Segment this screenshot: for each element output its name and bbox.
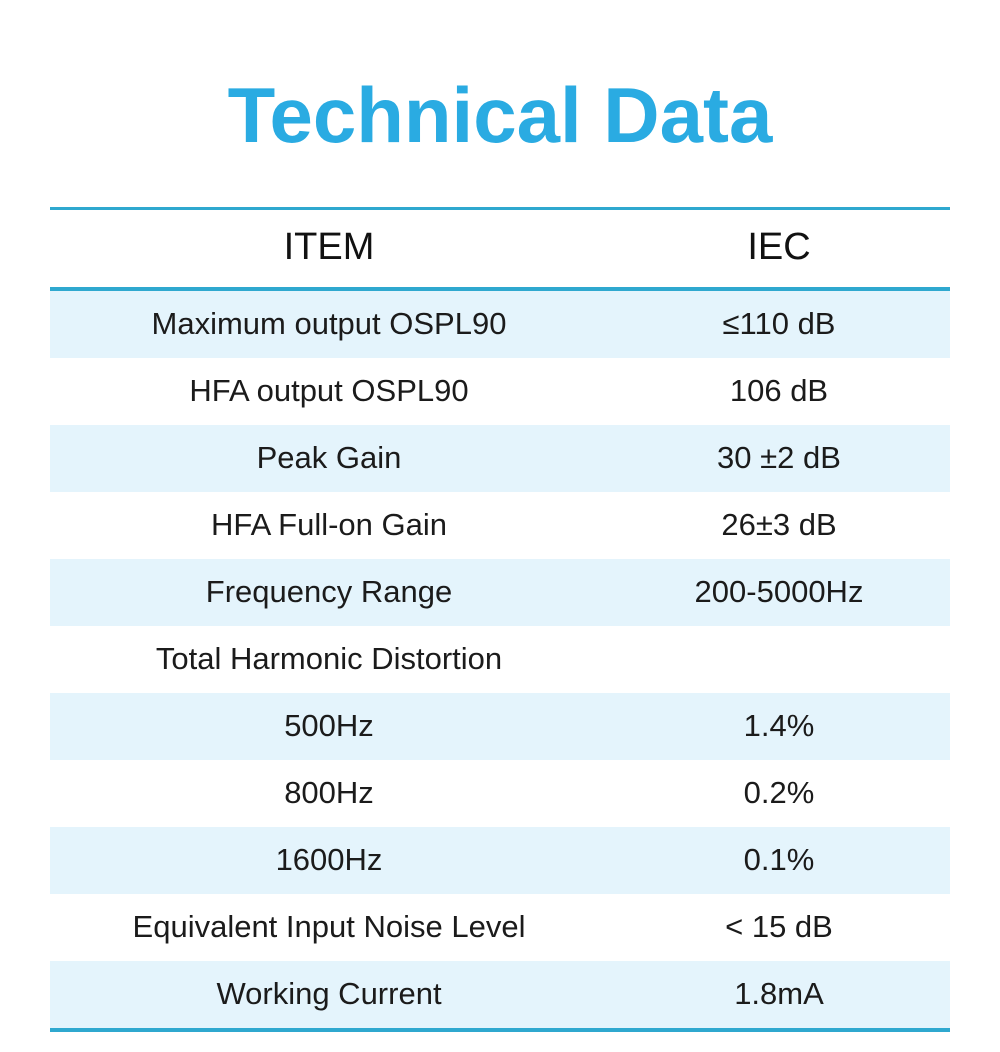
table-cell-value: ≤110 dB [608, 291, 950, 358]
table-row: Frequency Range200-5000Hz [50, 559, 950, 626]
table-cell-item: Peak Gain [50, 425, 608, 492]
table-row: 500Hz1.4% [50, 693, 950, 760]
table-cell-item: HFA Full-on Gain [50, 492, 608, 559]
table-cell-value: 26±3 dB [608, 492, 950, 559]
table-cell-value: 106 dB [608, 358, 950, 425]
table-cell-item: 800Hz [50, 760, 608, 827]
table-row: Working Current1.8mA [50, 961, 950, 1028]
table-cell-item: 500Hz [50, 693, 608, 760]
table-header-row: ITEM IEC [50, 210, 950, 287]
table-cell-value: 0.1% [608, 827, 950, 894]
table-cell-item: Equivalent Input Noise Level [50, 894, 608, 961]
table-cell-value: 200-5000Hz [608, 559, 950, 626]
table-cell-item: Maximum output OSPL90 [50, 291, 608, 358]
page-title: Technical Data [0, 52, 1000, 154]
table-row: 1600Hz0.1% [50, 827, 950, 894]
column-header-item: ITEM [50, 210, 608, 287]
technical-data-table: ITEM IEC Maximum output OSPL90≤110 dBHFA… [50, 210, 950, 1028]
table-cell-item: 1600Hz [50, 827, 608, 894]
table-cell-value [608, 626, 950, 693]
column-header-value: IEC [608, 210, 950, 287]
table-cell-value: 1.4% [608, 693, 950, 760]
table-cell-item: HFA output OSPL90 [50, 358, 608, 425]
table-body: Maximum output OSPL90≤110 dBHFA output O… [50, 291, 950, 1028]
table-cell-item: Frequency Range [50, 559, 608, 626]
table-row: Equivalent Input Noise Level< 15 dB [50, 894, 950, 961]
table-cell-value: 30 ±2 dB [608, 425, 950, 492]
table-cell-value: 1.8mA [608, 961, 950, 1028]
table-cell-value: < 15 dB [608, 894, 950, 961]
table-row: 800Hz0.2% [50, 760, 950, 827]
table-cell-value: 0.2% [608, 760, 950, 827]
table-cell-item: Working Current [50, 961, 608, 1028]
table-bottom-divider [50, 1028, 950, 1032]
table-row: HFA output OSPL90106 dB [50, 358, 950, 425]
table-header: ITEM IEC [50, 210, 950, 291]
table-row: Total Harmonic Distortion [50, 626, 950, 693]
table-cell-item: Total Harmonic Distortion [50, 626, 608, 693]
technical-data-sheet: Technical Data ITEM IEC Maximum output O… [0, 52, 1000, 1052]
table-row: HFA Full-on Gain26±3 dB [50, 492, 950, 559]
table-row: Maximum output OSPL90≤110 dB [50, 291, 950, 358]
table-row: Peak Gain30 ±2 dB [50, 425, 950, 492]
